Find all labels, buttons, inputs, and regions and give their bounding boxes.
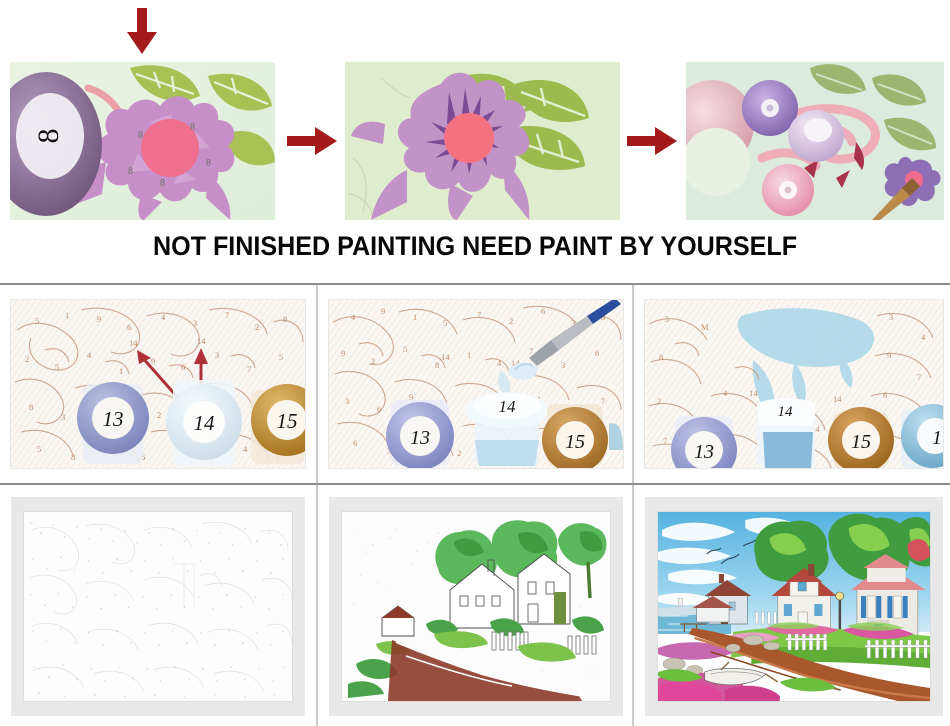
canvas-frame-finished — [645, 497, 943, 716]
right-arrow-icon — [285, 124, 339, 158]
svg-text:5: 5 — [37, 444, 41, 454]
svg-text:15: 15 — [565, 431, 585, 453]
svg-text:7: 7 — [917, 372, 921, 382]
svg-text:14: 14 — [749, 388, 758, 398]
grid-row-canvas-stages: 5839 2741 6583 9274 1658 39 2741 6583 92… — [0, 483, 950, 726]
svg-text:5: 5 — [55, 362, 59, 372]
svg-text:7: 7 — [477, 310, 481, 320]
down-arrow-icon — [112, 6, 172, 56]
svg-text:2: 2 — [457, 448, 461, 458]
svg-text:8: 8 — [190, 122, 195, 133]
photo-blue-paint-on-canvas: 582 741 396 528 471 141414 MB 13 — [644, 299, 944, 469]
svg-text:1: 1 — [467, 350, 471, 360]
svg-text:6: 6 — [353, 438, 357, 448]
top-step-row: 88 88 8 8 — [0, 62, 950, 222]
svg-text:2: 2 — [255, 322, 259, 332]
grid-cell-blank-canvas: 5839 2741 6583 9274 1658 39 2741 6583 92… — [0, 485, 316, 726]
svg-text:14: 14 — [833, 394, 842, 404]
svg-text:3: 3 — [215, 350, 219, 360]
step-photo-flower-progress — [345, 62, 620, 220]
svg-text:6: 6 — [181, 362, 185, 372]
svg-text:14: 14 — [197, 336, 206, 346]
grid-cell-finished-painting — [632, 485, 950, 726]
svg-text:6: 6 — [883, 390, 887, 400]
svg-text:2: 2 — [25, 354, 29, 364]
step-photo-pots-and-brush — [686, 62, 944, 220]
paint-pot-13: 13 — [671, 416, 737, 468]
svg-text:13: 13 — [694, 441, 714, 463]
svg-text:6: 6 — [541, 306, 545, 316]
svg-text:7: 7 — [529, 346, 533, 356]
photo-brush-dipping-pot-14: 491 572 638 925 814 736 369 258 147 639 … — [328, 299, 624, 469]
svg-text:5: 5 — [665, 314, 669, 324]
svg-text:8: 8 — [71, 452, 75, 462]
svg-text:9: 9 — [381, 306, 385, 316]
grid-cell-brush-in-pot-14: 491 572 638 925 814 736 369 258 147 639 … — [316, 285, 632, 483]
svg-text:14: 14 — [194, 411, 216, 435]
svg-text:9: 9 — [341, 348, 345, 358]
svg-text:14: 14 — [499, 397, 517, 416]
svg-text:5: 5 — [403, 344, 407, 354]
grid-cell-partial-painting: 583 927 416 583 — [316, 485, 632, 726]
svg-text:14: 14 — [778, 404, 794, 420]
grid-cell-blue-paint-applied: 582 741 396 528 471 141414 MB 13 — [632, 285, 950, 483]
svg-text:1: 1 — [65, 310, 69, 320]
svg-text:6: 6 — [377, 404, 381, 414]
pot-number-label: 8 — [32, 129, 65, 144]
paint-pot-16: 1 — [901, 404, 943, 468]
instruction-grid: 519 643 728 254 196 375 836 294 17 582 6… — [0, 283, 950, 726]
svg-text:8: 8 — [160, 178, 165, 189]
svg-text:2: 2 — [509, 316, 513, 326]
svg-text:7: 7 — [663, 436, 667, 446]
instruction-top-section: 88 88 8 8 — [0, 0, 950, 283]
step-photo-pot-on-flower: 88 88 8 8 — [10, 62, 275, 220]
svg-text:2: 2 — [157, 410, 161, 420]
svg-text:8: 8 — [206, 158, 211, 169]
canvas-surface-finished — [657, 511, 931, 702]
svg-text:13: 13 — [410, 427, 430, 449]
svg-text:7: 7 — [247, 364, 251, 374]
paint-pot-14-open: 14 — [757, 399, 815, 469]
svg-text:3: 3 — [61, 412, 65, 422]
svg-text:1: 1 — [119, 366, 123, 376]
svg-text:3: 3 — [345, 396, 349, 406]
canvas-surface-blank: 5839 2741 6583 9274 1658 39 2741 6583 92… — [23, 511, 293, 702]
canvas-surface-partial: 583 927 416 583 — [341, 511, 611, 702]
svg-text:8: 8 — [659, 352, 663, 362]
paint-pot-13: 13 — [386, 400, 454, 468]
svg-text:6: 6 — [127, 322, 131, 332]
svg-text:13: 13 — [103, 407, 124, 431]
paint-pot-14: 14 — [166, 380, 242, 466]
svg-text:9: 9 — [887, 350, 891, 360]
svg-text:15: 15 — [277, 409, 298, 433]
paint-pot-15: 15 — [828, 407, 894, 468]
grid-row-paint-pots: 519 643 728 254 196 375 836 294 17 582 6… — [0, 285, 950, 483]
svg-text:3: 3 — [889, 312, 893, 322]
svg-text:9: 9 — [151, 356, 155, 366]
svg-text:8: 8 — [435, 360, 439, 370]
grid-cell-pots-with-arrows: 519 643 728 254 196 375 836 294 17 582 6… — [0, 285, 316, 483]
paint-pot-13: 13 — [77, 382, 149, 464]
svg-text:8: 8 — [283, 314, 287, 324]
right-arrow-icon — [625, 124, 679, 158]
svg-text:6: 6 — [595, 348, 599, 358]
svg-text:1: 1 — [932, 427, 942, 449]
svg-text:1: 1 — [413, 312, 417, 322]
svg-text:9: 9 — [97, 314, 101, 324]
svg-text:14: 14 — [441, 352, 450, 362]
svg-text:2: 2 — [371, 356, 375, 366]
svg-text:14: 14 — [129, 338, 138, 348]
canvas-frame-partial: 583 927 416 583 — [329, 497, 623, 716]
svg-text:5: 5 — [279, 352, 283, 362]
svg-text:3: 3 — [193, 318, 197, 328]
svg-text:5: 5 — [443, 318, 447, 328]
svg-text:15: 15 — [851, 431, 871, 453]
svg-text:7: 7 — [601, 396, 605, 406]
paint-pot-15: 15 — [542, 404, 608, 468]
svg-text:8: 8 — [138, 130, 143, 141]
page-title-banner: NOT FINISHED PAINTING NEED PAINT BY YOUR… — [33, 231, 917, 262]
svg-text:8: 8 — [128, 166, 133, 177]
paint-pot-15: 15 — [251, 384, 305, 464]
svg-text:2: 2 — [657, 396, 661, 406]
svg-text:8: 8 — [29, 402, 33, 412]
canvas-frame-blank: 5839 2741 6583 9274 1658 39 2741 6583 92… — [11, 497, 305, 716]
svg-text:3: 3 — [561, 360, 565, 370]
svg-text:7: 7 — [225, 310, 229, 320]
svg-text:5: 5 — [35, 316, 39, 326]
photo-canvas-pots-13-14-15: 519 643 728 254 196 375 836 294 17 582 6… — [10, 299, 306, 469]
paint-pot-14-open: 14 — [465, 392, 549, 466]
svg-text:M: M — [701, 322, 709, 332]
